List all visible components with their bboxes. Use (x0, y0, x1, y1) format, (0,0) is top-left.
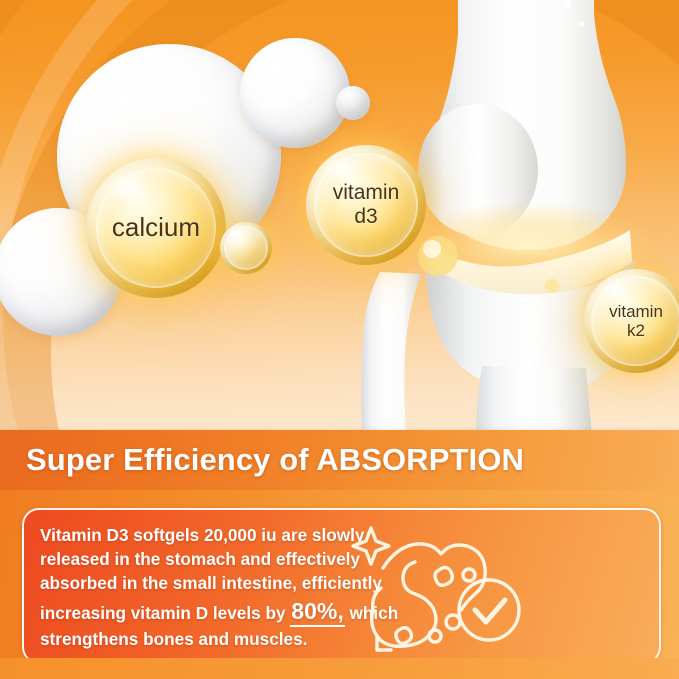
particle-dot-1 (463, 569, 475, 581)
bubble-highlight (228, 227, 244, 238)
bubble-vitamin-d3-label: vitamin d3 (333, 181, 400, 228)
oil-speck-1 (545, 279, 559, 293)
infographic-stage: calcium vitamin d3 vitamin k2 Super Effi… (0, 0, 679, 679)
particle-capsule-1 (435, 567, 452, 585)
oil-droplet-highlight (423, 240, 441, 258)
absorption-banner: Super Efficiency of ABSORPTION (0, 430, 679, 490)
info-card-percentage: 80%, (290, 598, 344, 627)
bubble-vitamin-k2-label: vitamin k2 (609, 302, 663, 340)
oil-droplet-joint (418, 236, 458, 276)
bubble-vitamin-d3[interactable]: vitamin d3 (306, 145, 426, 265)
sparkle-icon (353, 528, 389, 564)
info-card-section: Vitamin D3 softgels 20,000 iu are slowly… (0, 490, 679, 679)
bottom-strip (0, 658, 679, 679)
bubble-vitamin-k2[interactable]: vitamin k2 (584, 269, 679, 373)
check-mark-icon (475, 600, 505, 622)
banner-title: Super Efficiency of ABSORPTION (26, 442, 524, 478)
fibula-bone (361, 272, 422, 432)
info-card: Vitamin D3 softgels 20,000 iu are slowly… (22, 508, 661, 664)
sparkle-speck-2 (579, 21, 585, 27)
bubble-vitamin-k2-line2: k2 (609, 321, 663, 340)
stomach-digestion-check-icon (341, 518, 541, 658)
tibia-shaft (476, 366, 592, 432)
particle-capsule-2 (396, 628, 412, 644)
bubble-vitamin-d3-line1: vitamin (333, 181, 400, 205)
bubble-small-mid (220, 222, 272, 274)
bubble-calcium[interactable]: calcium (86, 158, 226, 298)
sparkle-speck-3 (524, 38, 529, 43)
particle-dot-2 (446, 615, 460, 629)
bubble-highlight (108, 172, 150, 203)
check-circle (459, 580, 519, 640)
bubble-vitamin-k2-line1: vitamin (609, 302, 663, 321)
bubble-calcium-label: calcium (112, 213, 200, 242)
sparkle-speck-1 (564, 0, 572, 8)
hero-section: calcium vitamin d3 vitamin k2 (0, 0, 679, 432)
bubble-vitamin-d3-line2: d3 (333, 205, 400, 229)
bubble-highlight (601, 279, 632, 302)
